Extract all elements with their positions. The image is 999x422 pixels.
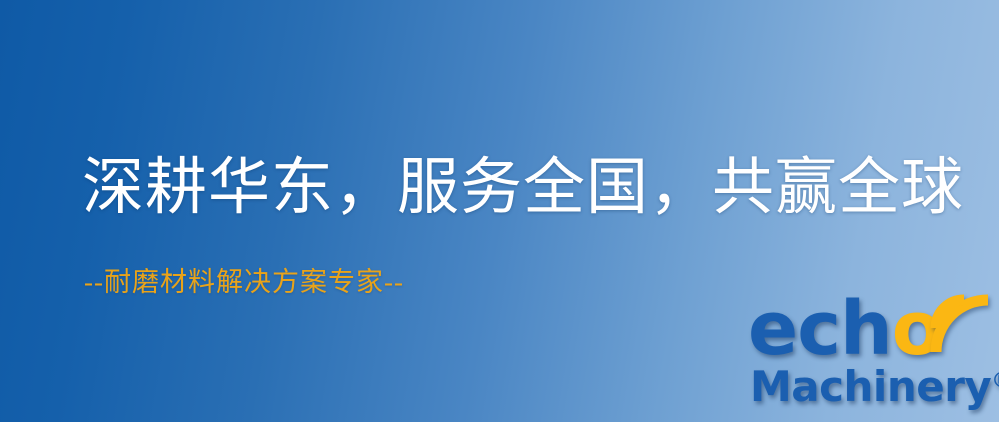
logo-echo-prefix: ech xyxy=(748,286,892,372)
logo-machinery-label: Machinery xyxy=(750,362,991,411)
signal-waves-icon xyxy=(928,292,998,360)
company-logo[interactable]: echo Machinery® xyxy=(748,296,996,418)
banner-headline: 深耕华东，服务全国，共赢全球 xyxy=(82,152,964,224)
registered-trademark-icon: ® xyxy=(991,368,999,392)
banner-subtitle: --耐磨材料解决方案专家-- xyxy=(84,265,404,299)
logo-machinery-text: Machinery® xyxy=(750,366,999,408)
logo-echo-text: echo xyxy=(748,292,942,366)
promo-banner: 深耕华东，服务全国，共赢全球 --耐磨材料解决方案专家-- echo Machi… xyxy=(0,0,999,422)
